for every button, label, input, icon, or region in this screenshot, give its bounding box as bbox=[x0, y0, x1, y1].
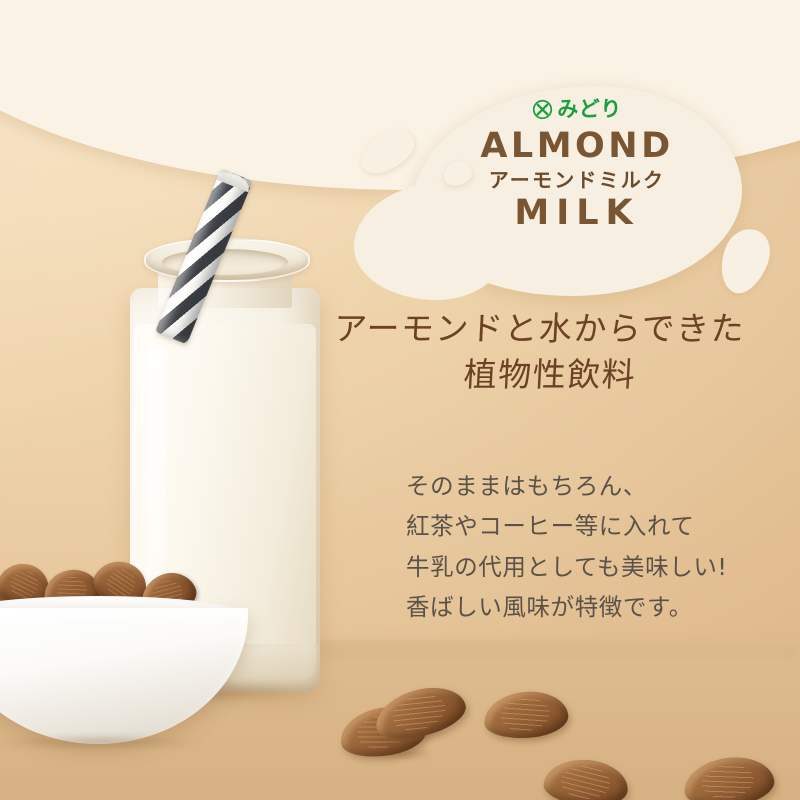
headline: アーモンドと水からできた 植物性飲料 bbox=[330, 306, 770, 397]
almond-bowl-group bbox=[0, 556, 260, 746]
product-badge: みどり ALMOND アーモンドミルク MILK bbox=[412, 96, 742, 233]
headline-line-1: アーモンドと水からできた bbox=[329, 306, 771, 352]
bowl-shadow bbox=[0, 732, 244, 752]
body-line-4: 香ばしい風味が特徴です。 bbox=[406, 587, 786, 627]
body-line-2: 紅茶やコーヒー等に入れて bbox=[406, 506, 786, 546]
headline-line-2: 植物性飲料 bbox=[329, 352, 771, 398]
brand-name: みどり bbox=[557, 99, 622, 120]
brand-logo: みどり bbox=[412, 96, 742, 122]
product-title-en: ALMOND bbox=[412, 128, 742, 165]
product-banner: みどり ALMOND アーモンドミルク MILK アーモンドと水からできた 植物… bbox=[0, 0, 800, 800]
bowl bbox=[0, 608, 248, 744]
body-line-1: そのままはもちろん、 bbox=[406, 466, 786, 506]
product-title-en2: MILK bbox=[412, 195, 742, 233]
circled-x-mark-icon bbox=[532, 99, 553, 120]
body-line-3: 牛乳の代用としても美味しい! bbox=[406, 547, 786, 587]
body-copy: そのままはもちろん、 紅茶やコーヒー等に入れて 牛乳の代用としても美味しい! 香… bbox=[406, 466, 786, 628]
product-title-kana: アーモンドミルク bbox=[412, 168, 742, 193]
